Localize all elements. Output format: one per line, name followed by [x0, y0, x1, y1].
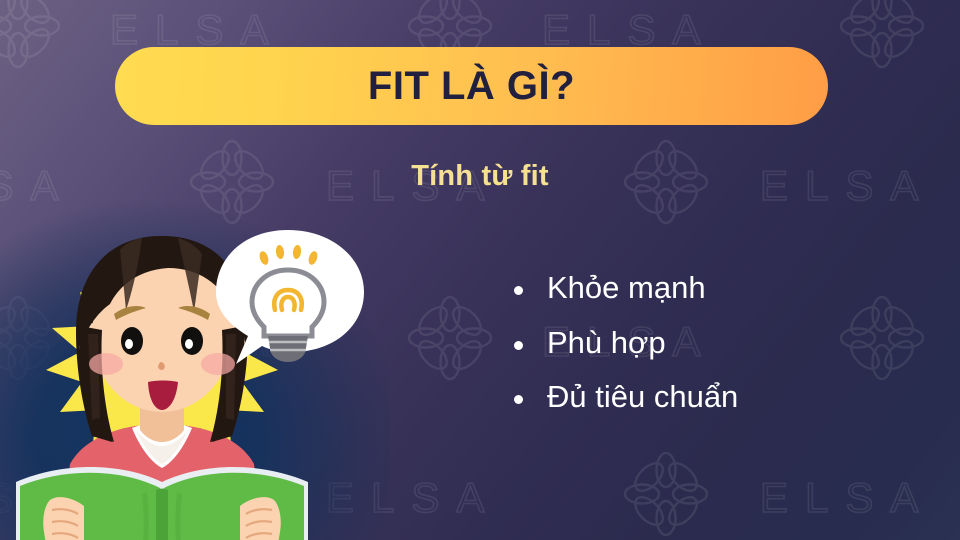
list-item: Khỏe mạnh: [505, 268, 738, 308]
girl-reading-book-illustration: [0, 214, 392, 540]
meaning-bullet-list: Khỏe mạnh Phù hợp Đủ tiêu chuẩn: [505, 268, 738, 432]
list-item: Đủ tiêu chuẩn: [505, 377, 738, 417]
title-banner: FIT LÀ GÌ?: [115, 47, 828, 125]
page-title: FIT LÀ GÌ?: [368, 66, 575, 106]
subtitle: Tính từ fit: [0, 160, 960, 193]
list-item: Phù hợp: [505, 323, 738, 363]
slide-canvas: ELSA: [0, 0, 960, 540]
